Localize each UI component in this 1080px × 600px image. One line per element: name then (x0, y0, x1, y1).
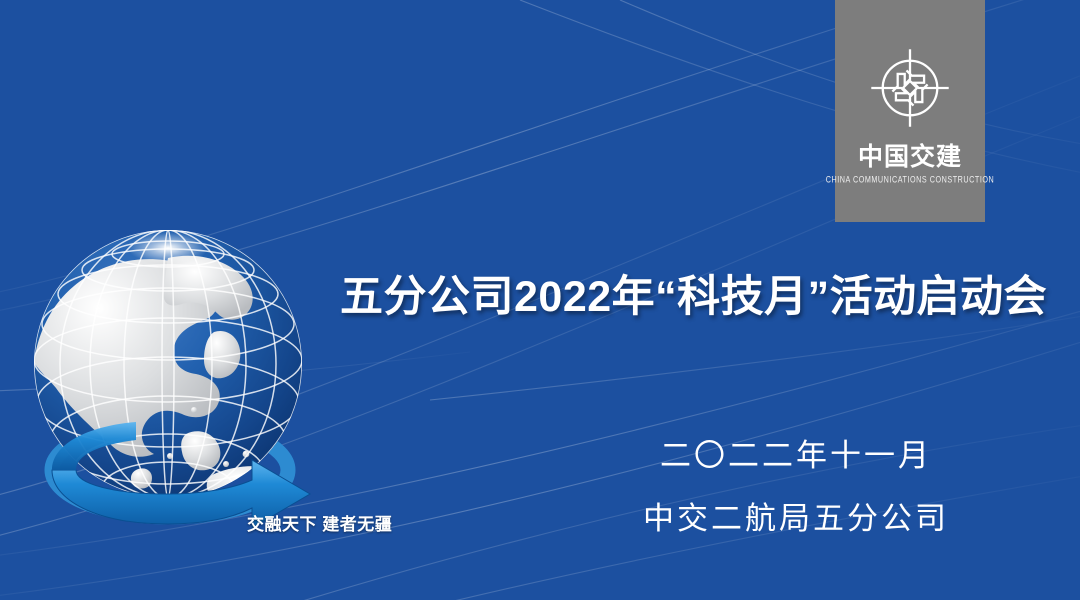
title-slide: 交融天下 建者无疆 中国交建 CHINA COMMUNICATIONS CONS… (0, 0, 1080, 600)
cccc-logo-plate: 中国交建 CHINA COMMUNICATIONS CONSTRUCTION (835, 0, 985, 222)
globe-graphic (18, 212, 348, 552)
cccc-compass-emblem (866, 44, 954, 132)
globe-pole-highlight (128, 232, 208, 264)
footer-block: 二〇二二年十一月 中交二航局五分公司 (596, 440, 996, 534)
footer-date: 二〇二二年十一月 (596, 440, 996, 471)
logo-company-name-en: CHINA COMMUNICATIONS CONSTRUCTION (826, 175, 995, 184)
globe-svg (18, 212, 348, 552)
page-title: 五分公司2022年“科技月”活动启动会 (340, 262, 1040, 324)
globe-slogan: 交融天下 建者无疆 (247, 510, 392, 535)
logo-company-name-cn: 中国交建 (858, 145, 962, 170)
footer-organization: 中交二航局五分公司 (596, 503, 996, 534)
